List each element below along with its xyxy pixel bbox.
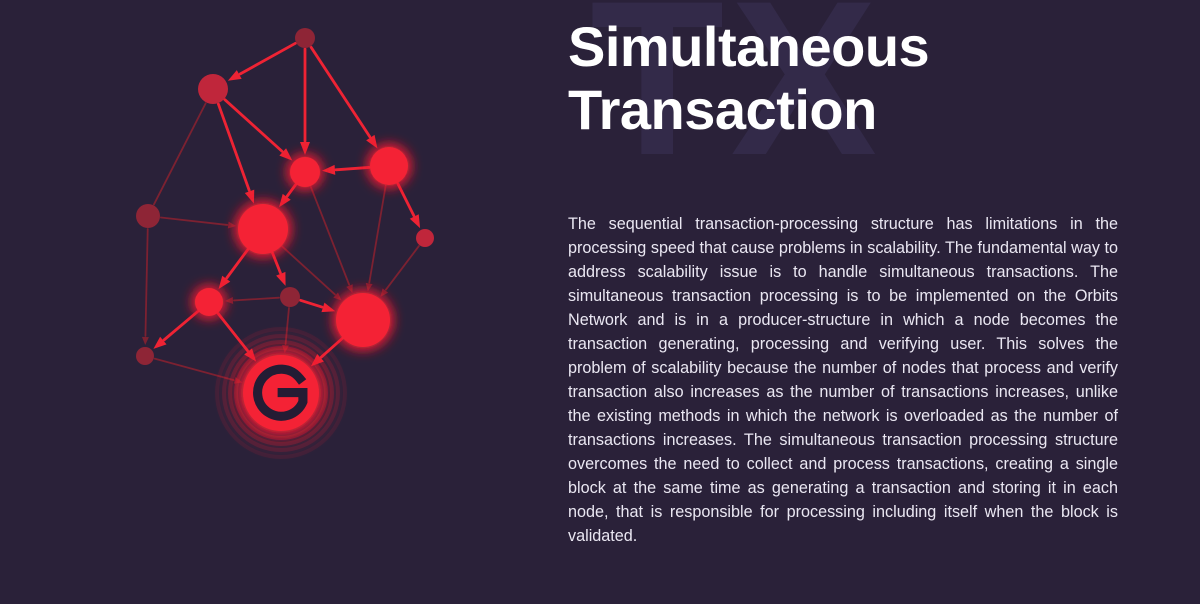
edge-arrowhead (142, 337, 149, 345)
graph-edge (300, 49, 310, 155)
edge-arrowhead (410, 214, 420, 228)
graph-edge (380, 246, 418, 297)
edge-arrowhead (321, 303, 335, 313)
edge-arrowhead (322, 165, 335, 175)
node-left (136, 204, 160, 228)
graph-edge (273, 253, 286, 286)
graph-edge (154, 103, 206, 204)
edge-arrowhead (366, 283, 373, 291)
graph-edge (322, 165, 369, 175)
page-title: Simultaneous Transaction (568, 16, 1168, 141)
edge-arrowhead (300, 142, 310, 155)
graph-edge (142, 229, 149, 345)
slide-root: G TX Simultaneous Transaction The sequen… (0, 0, 1200, 604)
edge-arrowhead (276, 272, 285, 286)
graph-edge (311, 47, 377, 148)
graph-edge (153, 312, 197, 349)
graph-edge (398, 184, 420, 228)
body-paragraph: The sequential transaction-processing st… (568, 212, 1118, 548)
graph-edge (300, 300, 335, 312)
node-hub-right (336, 293, 390, 347)
edge-arrowhead (225, 297, 233, 304)
network-diagram-panel: G (0, 0, 560, 604)
graph-edge (228, 43, 296, 80)
node-bottom-left (136, 347, 154, 365)
node-far-right (416, 229, 434, 247)
page-title-line-2: Transaction (568, 79, 1168, 142)
edge-arrowhead (346, 284, 353, 293)
content-panel: TX Simultaneous Transaction The sequenti… (560, 0, 1200, 604)
node-lower-left (195, 288, 223, 316)
node-mid-right (370, 147, 408, 185)
node-mid-center (290, 157, 320, 187)
graph-edge (279, 185, 295, 207)
node-top (295, 28, 315, 48)
edge-arrowhead (245, 190, 254, 204)
edge-arrowhead (366, 135, 377, 149)
graph-edge (218, 104, 254, 204)
graph-edge (219, 250, 248, 289)
node-center-small (280, 287, 300, 307)
node-layer: G (136, 28, 434, 431)
network-graph-svg: G (0, 0, 560, 604)
node-upper-left (198, 74, 228, 104)
graph-edge (366, 186, 386, 292)
node-hub-left (238, 204, 288, 254)
graph-edge (161, 217, 236, 228)
graph-edge (225, 297, 279, 304)
edge-arrowhead (228, 70, 242, 81)
edge-arrowhead (228, 222, 236, 229)
page-title-line-1: Simultaneous (568, 16, 1168, 79)
